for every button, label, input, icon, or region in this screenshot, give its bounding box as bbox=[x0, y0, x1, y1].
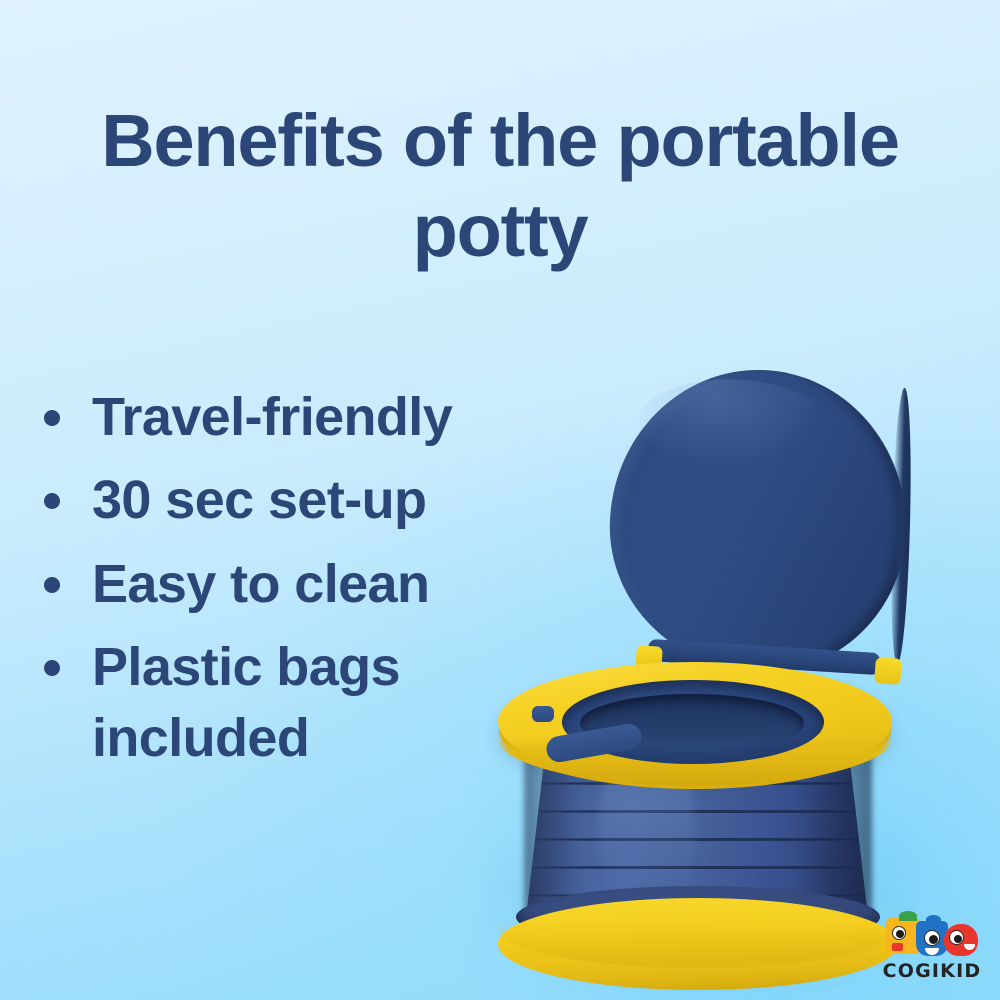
logo-wordmark: COGIKID bbox=[878, 960, 986, 982]
list-item: Travel-friendly bbox=[44, 382, 544, 453]
list-item-label: Travel-friendly bbox=[92, 382, 452, 453]
logo-cap-icon bbox=[926, 915, 941, 924]
bullet-dot-icon bbox=[44, 493, 60, 509]
potty-seat-notch bbox=[532, 706, 554, 722]
list-item-label: Easy to clean bbox=[92, 549, 429, 620]
product-image-portable-potty bbox=[470, 350, 940, 990]
list-item: Easy to clean bbox=[44, 549, 544, 620]
logo-eye-icon bbox=[924, 930, 940, 946]
bullet-dot-icon bbox=[44, 660, 60, 676]
logo-mouth-icon bbox=[925, 948, 939, 955]
lid-highlight bbox=[637, 377, 829, 472]
list-item-label: 30 sec set-up bbox=[92, 465, 426, 536]
list-item: 30 sec set-up bbox=[44, 465, 544, 536]
title-line-1: Benefits of the portable bbox=[60, 96, 940, 186]
logo-eye-icon bbox=[949, 930, 964, 945]
list-item: Plastic bags included bbox=[44, 632, 544, 775]
logo-characters bbox=[878, 914, 986, 958]
logo-red-character-icon bbox=[944, 924, 978, 956]
benefits-list: Travel-friendly 30 sec set-up Easy to cl… bbox=[44, 382, 544, 786]
potty-base-ring-shade bbox=[498, 890, 898, 968]
logo-yellow-character-icon bbox=[886, 918, 920, 954]
logo-pupil-icon bbox=[929, 935, 938, 944]
potty-hinge-peg-right bbox=[874, 657, 902, 685]
logo-mouth-icon bbox=[892, 943, 903, 951]
logo-pupil-icon bbox=[954, 935, 962, 943]
title-line-2: potty bbox=[60, 186, 940, 276]
logo-eye-icon bbox=[892, 926, 906, 940]
logo-pupil-icon bbox=[896, 930, 904, 938]
logo-mouth-icon bbox=[964, 944, 975, 950]
poster-canvas: Benefits of the portable potty Travel-fr… bbox=[0, 0, 1000, 1000]
lid-edge bbox=[888, 388, 913, 664]
brand-logo: COGIKID bbox=[878, 914, 986, 988]
bullet-dot-icon bbox=[44, 577, 60, 593]
logo-cap-icon bbox=[899, 911, 917, 921]
bullet-dot-icon bbox=[44, 410, 60, 426]
potty-lid bbox=[606, 366, 910, 676]
page-title: Benefits of the portable potty bbox=[60, 96, 940, 277]
